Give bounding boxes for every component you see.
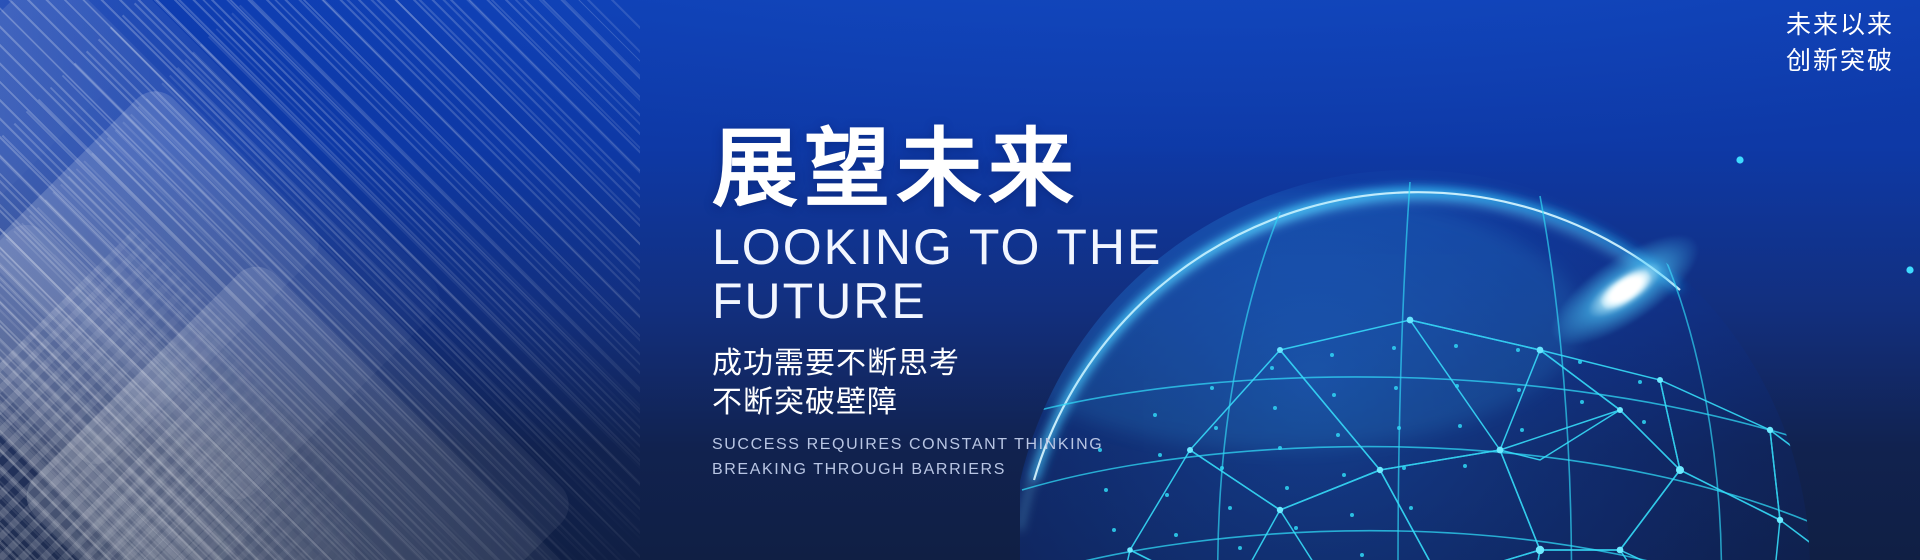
decor-quad-1 [0, 0, 330, 475]
decor-quad-5 [16, 256, 624, 560]
diagonal-lines-group-a [0, 0, 640, 560]
decor-quad-3 [0, 81, 579, 560]
corner-tagline-line-1: 未来以来 [1786, 8, 1894, 44]
diagonal-lines-group-b [0, 0, 640, 560]
diagonal-lines-group-c [0, 3, 640, 560]
globe-edge-light-flare [1537, 216, 1714, 364]
tagline-en-line-1: SUCCESS REQUIRES CONSTANT THINKING [712, 433, 1352, 458]
page-title: 展望未来 [712, 126, 1352, 214]
banner: 展望未来 LOOKING TO THE FUTURE 成功需要不断思考 不断突破… [0, 0, 1920, 560]
page-subtitle-en: LOOKING TO THE FUTURE [712, 220, 1352, 328]
left-geometric-decoration [0, 0, 640, 560]
tagline-cn: 成功需要不断思考 不断突破壁障 [712, 344, 1352, 423]
diamond-dot-grid [0, 227, 348, 560]
tagline-en-line-2: BREAKING THROUGH BARRIERS [712, 458, 1352, 483]
diamond-dot-grid-secondary [66, 346, 434, 560]
headline-copy-block: 展望未来 LOOKING TO THE FUTURE 成功需要不断思考 不断突破… [712, 126, 1352, 483]
decor-quad-6 [0, 0, 160, 220]
tagline-cn-line-2: 不断突破壁障 [712, 383, 1352, 423]
tagline-cn-line-1: 成功需要不断思考 [712, 344, 1352, 384]
corner-tagline: 未来以来 创新突破 [1786, 8, 1894, 79]
tagline-en: SUCCESS REQUIRES CONSTANT THINKING BREAK… [712, 433, 1352, 483]
corner-tagline-line-2: 创新突破 [1786, 44, 1894, 80]
decor-quad-2 [0, 0, 450, 510]
decor-quad-4 [0, 214, 366, 560]
